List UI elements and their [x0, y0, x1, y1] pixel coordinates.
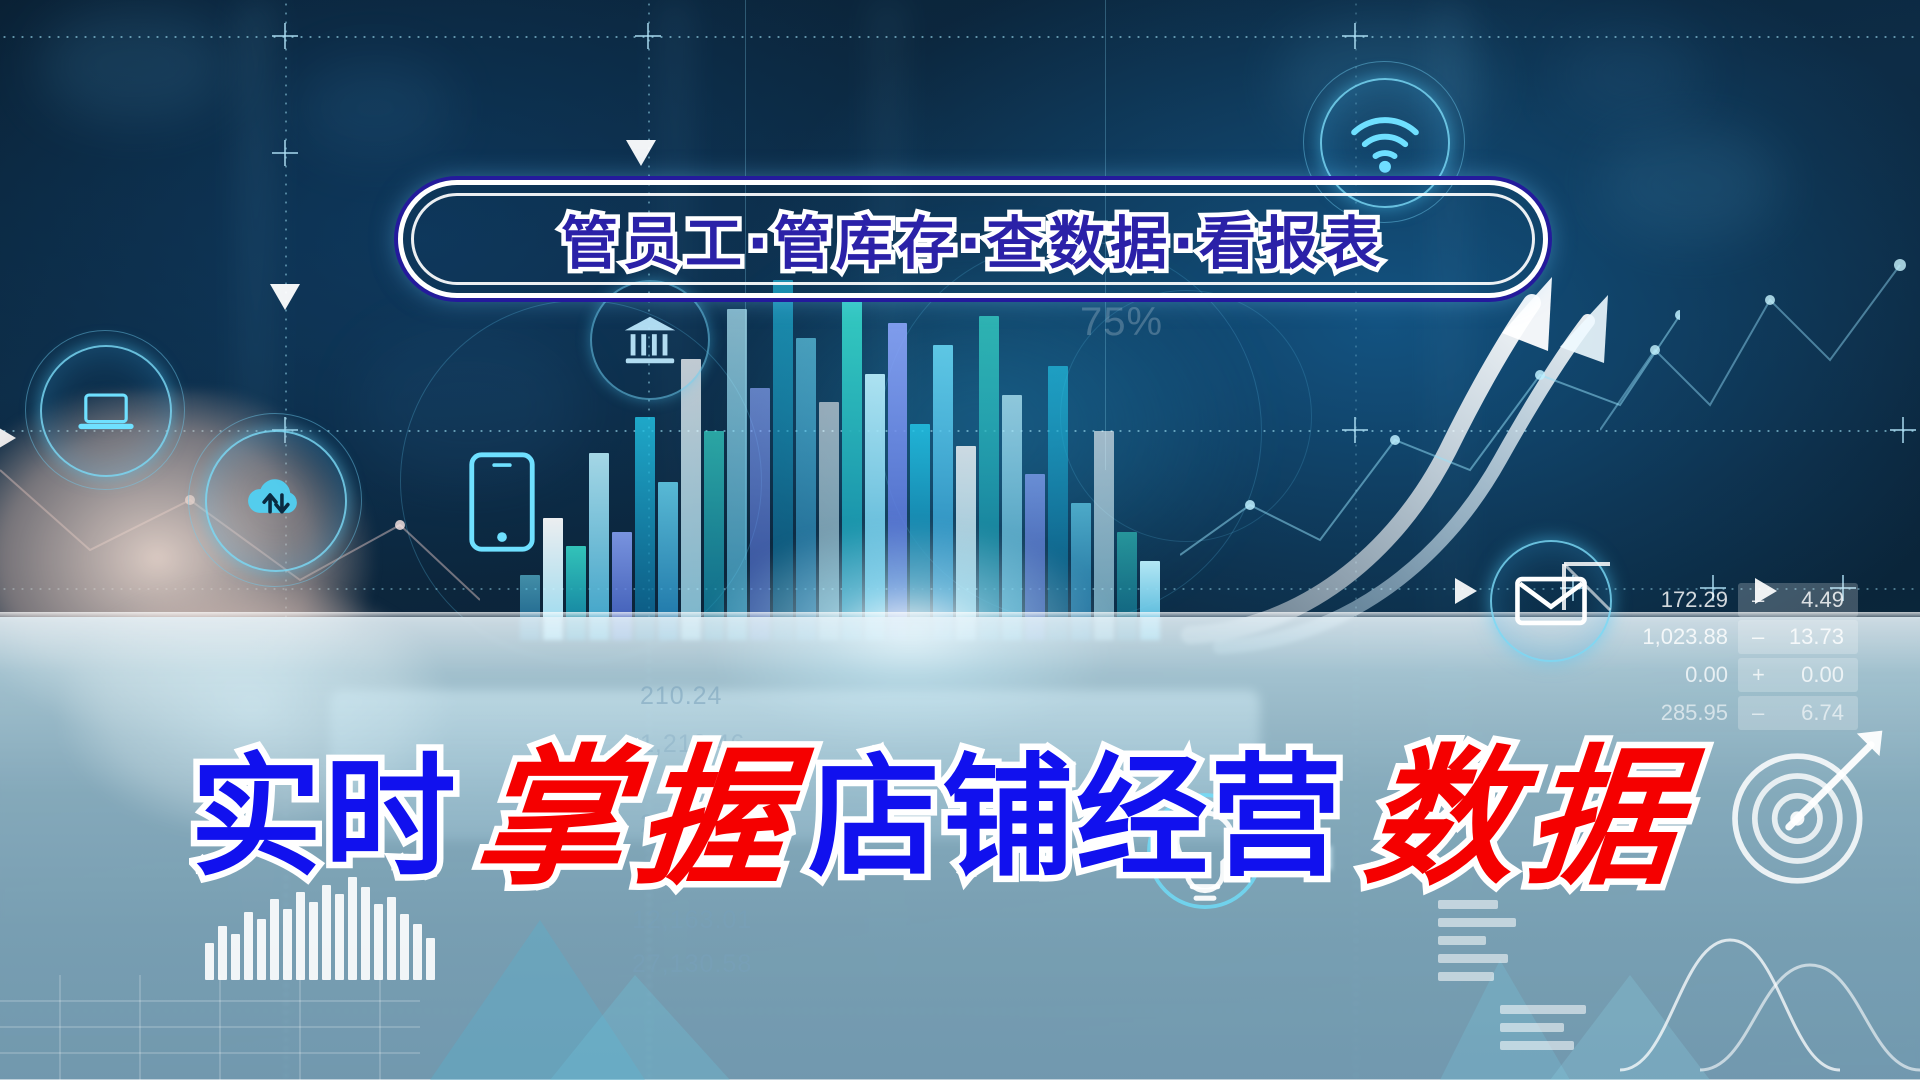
ticker-row: 0.00 + 0.00: [1600, 658, 1858, 692]
headline-segment-2: 掌握: [469, 743, 806, 893]
sparkline-bar: [374, 904, 383, 980]
mini-rows-chart: [1500, 1005, 1586, 1050]
sparkline-bar: [400, 914, 409, 980]
ticker-change: – 6.74: [1738, 696, 1858, 730]
ticker-value: 1,023.88: [1600, 624, 1728, 650]
data-label: 210.24: [640, 682, 722, 711]
ticker-sign: –: [1752, 700, 1764, 726]
chart-bar: [635, 417, 655, 640]
chart-bar: [681, 359, 701, 640]
percent-label: 75%: [1080, 300, 1163, 345]
sparkline-bar: [218, 926, 227, 980]
sparkline-bar: [231, 934, 240, 980]
cloud-sync-icon-outer-ring: [188, 413, 362, 587]
ticker-delta: 13.73: [1789, 624, 1844, 650]
ticker-value: 172.29: [1600, 587, 1728, 613]
bell-curve-chart: [1620, 880, 1920, 1080]
bottom-left-grid: [0, 975, 420, 1080]
bank-glyph: [619, 309, 681, 371]
data-label: 27,130.58: [632, 950, 752, 979]
bokeh-blob: [40, 10, 230, 120]
tagline-text: 管员工·管库存·查数据·看报表: [561, 198, 1385, 280]
bokeh-blob: [1560, 30, 1700, 120]
bokeh-blob: [1600, 130, 1780, 240]
network-polyline: [1600, 230, 1920, 490]
banner-root: 75% 210.24 1,213.46 25,104.77 7,513.08 1…: [0, 0, 1920, 1080]
ticker-delta: 6.74: [1801, 700, 1844, 726]
bank-icon: [590, 280, 710, 400]
sparkline-bar: [335, 894, 344, 980]
ticker-row: 172.29 – 4.49: [1600, 583, 1858, 617]
sparkline-bar: [270, 899, 279, 980]
ticker-delta: 0.00: [1801, 662, 1844, 688]
headline-segment-1: 实时: [190, 752, 458, 884]
ticker-value: 0.00: [1600, 662, 1728, 688]
crosshair-tick: [272, 140, 298, 166]
ticker-change: + 0.00: [1738, 658, 1858, 692]
crosshair-tick: [635, 23, 661, 49]
sparkline-bar: [244, 912, 253, 980]
smartphone-icon: [465, 450, 539, 559]
sparkline-bar: [387, 897, 396, 980]
crosshair-tick: [1342, 23, 1368, 49]
main-headline: 实时 掌握 店铺经营 数据: [190, 735, 1750, 900]
ticker-change: – 4.49: [1738, 583, 1858, 617]
ticker-change: – 13.73: [1738, 620, 1858, 654]
headline-segment-4: 数据: [1359, 743, 1696, 893]
laptop-icon-outer-ring: [25, 330, 185, 490]
data-label: 12,163.01: [632, 906, 752, 935]
sparkline-bar: [257, 919, 266, 980]
mini-rows-chart: [1438, 900, 1516, 981]
smartphone-glyph: [465, 450, 539, 554]
tagline-badge: 管员工·管库存·查数据·看报表: [398, 180, 1548, 298]
headline-segment-3: 店铺经营: [808, 752, 1344, 884]
ticker-sign: –: [1752, 624, 1764, 650]
crosshair-tick: [272, 23, 298, 49]
bokeh-blob: [300, 60, 450, 155]
sparkline-bar: [296, 892, 305, 980]
sparkline-bar: [309, 902, 318, 980]
ticker-delta: 4.49: [1801, 587, 1844, 613]
sparkline-bar: [283, 909, 292, 980]
marker-down-icon: [626, 140, 656, 166]
ticker-sign: +: [1752, 662, 1765, 688]
ticker-row: 1,023.88 – 13.73: [1600, 620, 1858, 654]
sparkline-bar: [426, 938, 435, 980]
sparkline-bar: [361, 887, 370, 980]
ticker-value: 285.95: [1600, 700, 1728, 726]
ticker-row: 285.95 – 6.74: [1600, 696, 1858, 730]
marker-down-icon: [270, 284, 300, 310]
sparkline-bar: [413, 924, 422, 980]
ticker-sign: –: [1752, 587, 1764, 613]
